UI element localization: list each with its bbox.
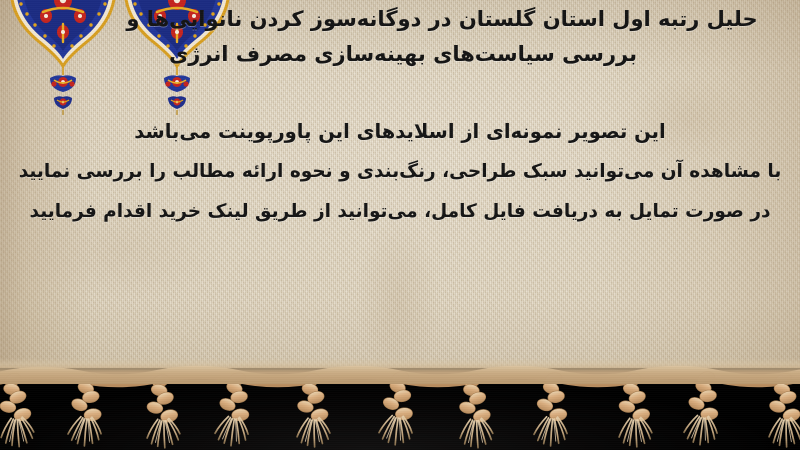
slide-title-line-2: بررسی سیاست‌های بهینه‌سازی مصرف انرژی	[0, 37, 800, 72]
slide-canvas: حلیل رتبه اول استان گلستان در دوگانه‌سوز…	[0, 0, 800, 450]
slide-title: حلیل رتبه اول استان گلستان در دوگانه‌سوز…	[0, 2, 800, 72]
slide-title-line-1: حلیل رتبه اول استان گلستان در دوگانه‌سوز…	[0, 2, 800, 37]
slide-body-line-3: در صورت تمایل به دریافت فایل کامل، می‌تو…	[0, 192, 800, 232]
slide-text-layer: حلیل رتبه اول استان گلستان در دوگانه‌سوز…	[0, 0, 800, 450]
slide-body: این تصویر نمونه‌ای از اسلایدهای این پاور…	[0, 112, 800, 232]
slide-body-line-1: این تصویر نمونه‌ای از اسلایدهای این پاور…	[0, 112, 800, 152]
slide-body-line-2: با مشاهده آن می‌توانید سبک طراحی، رنگ‌بن…	[0, 152, 800, 192]
